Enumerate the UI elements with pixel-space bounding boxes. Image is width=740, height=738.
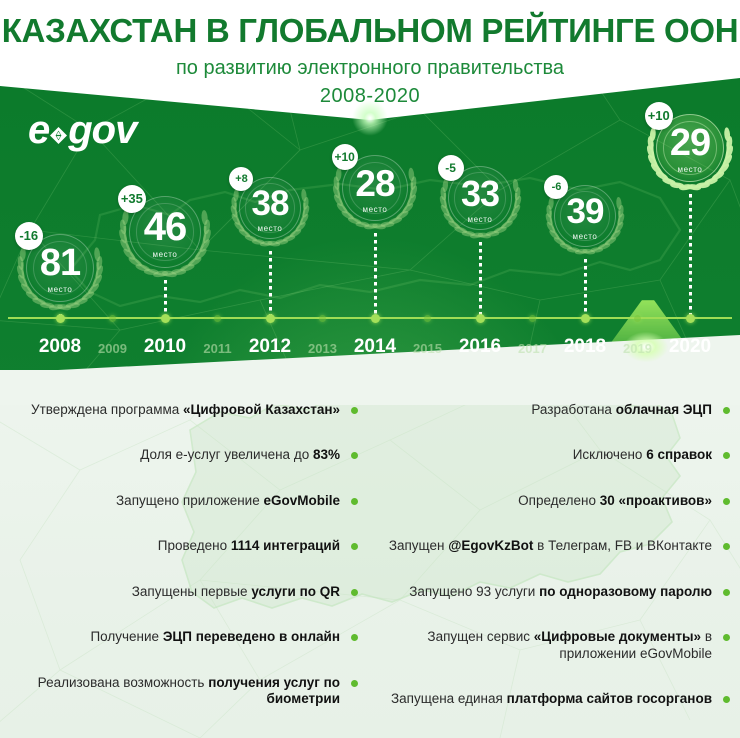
- rank-node-2008[interactable]: 81место-16: [14, 220, 106, 312]
- achievement-item: Проведено 1114 интеграций: [0, 538, 360, 554]
- achievements-column-right: Разработана облачная ЭЦПИсключено 6 спра…: [372, 402, 732, 738]
- year-label-2020: 2020: [645, 336, 735, 358]
- timeline-tick-dot-2012: [266, 314, 275, 323]
- timeline-tick-dot-2013: [319, 315, 326, 322]
- achievement-text: Запущены первые услуги по QR: [132, 584, 340, 599]
- rank-value-2016: 33: [437, 176, 524, 212]
- connector-line-2012: [269, 251, 272, 315]
- bullet-icon: [723, 634, 730, 641]
- rank-node-2010[interactable]: 46место+35: [116, 181, 214, 279]
- rank-node-2020[interactable]: 29место+10: [644, 100, 736, 192]
- achievement-item: Разработана облачная ЭЦП: [372, 402, 732, 418]
- logo-text-gov: gov: [68, 108, 136, 152]
- bullet-icon: [351, 498, 358, 505]
- infographic-page: КАЗАХСТАН В ГЛОБАЛЬНОМ РЕЙТИНГЕ ООН по р…: [0, 0, 740, 738]
- header: КАЗАХСТАН В ГЛОБАЛЬНОМ РЕЙТИНГЕ ООН по р…: [0, 0, 740, 112]
- timeline-tick-dot-2014: [371, 314, 380, 323]
- achievements-column-left: Утверждена программа «Цифровой Казахстан…: [0, 402, 360, 738]
- timeline-tick-dot-2017: [529, 315, 536, 322]
- logo-text-e: e: [28, 108, 49, 152]
- rank-change-badge-2008: -16: [15, 222, 43, 250]
- rank-change-badge-2016: -5: [438, 155, 464, 181]
- achievement-item: Запущены первые услуги по QR: [0, 584, 360, 600]
- egov-logo[interactable]: egov: [28, 108, 136, 153]
- rank-word-2020: место: [644, 165, 736, 174]
- achievement-text: Разработана облачная ЭЦП: [531, 402, 712, 417]
- bullet-icon: [351, 680, 358, 687]
- page-title: КАЗАХСТАН В ГЛОБАЛЬНОМ РЕЙТИНГЕ ООН: [0, 12, 740, 50]
- achievement-item: Реализована возможность получения услуг …: [0, 675, 360, 708]
- connector-line-2010: [164, 280, 167, 315]
- achievement-item: Утверждена программа «Цифровой Казахстан…: [0, 402, 360, 418]
- rank-change-badge-2014: +10: [332, 144, 358, 170]
- bullet-icon: [351, 543, 358, 550]
- achievement-text: Получение ЭЦП переведено в онлайн: [90, 629, 340, 644]
- achievement-text: Исключено 6 справок: [573, 447, 712, 462]
- achievement-text: Доля е-услуг увеличена до 83%: [140, 447, 340, 462]
- connector-line-2018: [584, 259, 587, 315]
- years-range-label: 2008-2020: [0, 85, 740, 108]
- bullet-icon: [351, 452, 358, 459]
- achievement-item: Исключено 6 справок: [372, 447, 732, 463]
- timeline-tick-dot-2018: [581, 314, 590, 323]
- rank-word-2014: место: [330, 205, 420, 214]
- timeline-tick-dot-2010: [161, 314, 170, 323]
- rank-value-2012: 38: [228, 186, 312, 221]
- timeline-tick-dot-2015: [424, 315, 431, 322]
- achievement-item: Запущен сервис «Цифровые документы» в пр…: [372, 629, 732, 662]
- achievement-text: Запущено приложение eGovMobile: [116, 493, 340, 508]
- rank-node-2016[interactable]: 33место-5: [437, 153, 524, 240]
- achievement-text: Определено 30 «проактивов»: [518, 493, 712, 508]
- connector-line-2014: [374, 233, 377, 315]
- bullet-icon: [723, 452, 730, 459]
- connector-line-2016: [479, 242, 482, 315]
- connector-line-2020: [689, 194, 692, 315]
- achievement-item: Запущено 93 услуги по одноразовому парол…: [372, 584, 732, 600]
- rank-node-2018[interactable]: 39место-6: [543, 172, 627, 256]
- bullet-icon: [723, 696, 730, 703]
- achievement-text: Проведено 1114 интеграций: [158, 538, 340, 553]
- diamond-arrow-icon: [50, 109, 67, 126]
- rank-node-2014[interactable]: 28место+10: [330, 141, 420, 231]
- timeline-tick-dot-2008: [56, 314, 65, 323]
- timeline-tick-dot-2016: [476, 314, 485, 323]
- rank-value-2020: 29: [644, 124, 736, 162]
- achievement-text: Запущена единая платформа сайтов госорга…: [391, 691, 712, 706]
- rank-word-2010: место: [116, 250, 214, 259]
- timeline-tick-dot-2020: [686, 314, 695, 323]
- achievement-text: Запущен сервис «Цифровые документы» в пр…: [427, 629, 712, 660]
- rank-value-2008: 81: [14, 244, 106, 282]
- achievement-item: Получение ЭЦП переведено в онлайн: [0, 629, 360, 645]
- rank-value-2014: 28: [330, 165, 420, 202]
- bullet-icon: [723, 543, 730, 550]
- achievement-text: Реализована возможность получения услуг …: [38, 675, 340, 706]
- achievement-item: Определено 30 «проактивов»: [372, 493, 732, 509]
- timeline-tick-dot-2009: [109, 315, 116, 322]
- achievement-item: Запущено приложение eGovMobile: [0, 493, 360, 509]
- bullet-icon: [723, 407, 730, 414]
- timeline-tick-dot-2011: [214, 315, 221, 322]
- rank-word-2016: место: [437, 215, 524, 224]
- rank-node-2012[interactable]: 38место+8: [228, 164, 312, 248]
- timeline-tick-dot-2019: [634, 315, 641, 322]
- achievements-columns: Утверждена программа «Цифровой Казахстан…: [0, 402, 740, 732]
- rank-value-2010: 46: [116, 207, 214, 247]
- achievement-text: Запущено 93 услуги по одноразовому парол…: [409, 584, 712, 599]
- bullet-icon: [723, 498, 730, 505]
- rank-change-badge-2020: +10: [645, 102, 673, 130]
- achievement-item: Доля е-услуг увеличена до 83%: [0, 447, 360, 463]
- page-subtitle: по развитию электронного правительства: [0, 57, 740, 80]
- achievement-item: Запущена единая платформа сайтов госорга…: [372, 691, 732, 707]
- bullet-icon: [351, 407, 358, 414]
- bullet-icon: [351, 589, 358, 596]
- rank-word-2008: место: [14, 285, 106, 294]
- rank-word-2018: место: [543, 232, 627, 241]
- bullet-icon: [723, 589, 730, 596]
- bullet-icon: [351, 634, 358, 641]
- achievement-item: Запущен @EgovKzBot в Телеграм, FB и ВКон…: [372, 538, 732, 554]
- achievement-text: Утверждена программа «Цифровой Казахстан…: [31, 402, 340, 417]
- rank-change-badge-2010: +35: [118, 185, 146, 213]
- achievement-text: Запущен @EgovKzBot в Телеграм, FB и ВКон…: [389, 538, 712, 553]
- rank-word-2012: место: [228, 224, 312, 233]
- rank-value-2018: 39: [543, 194, 627, 229]
